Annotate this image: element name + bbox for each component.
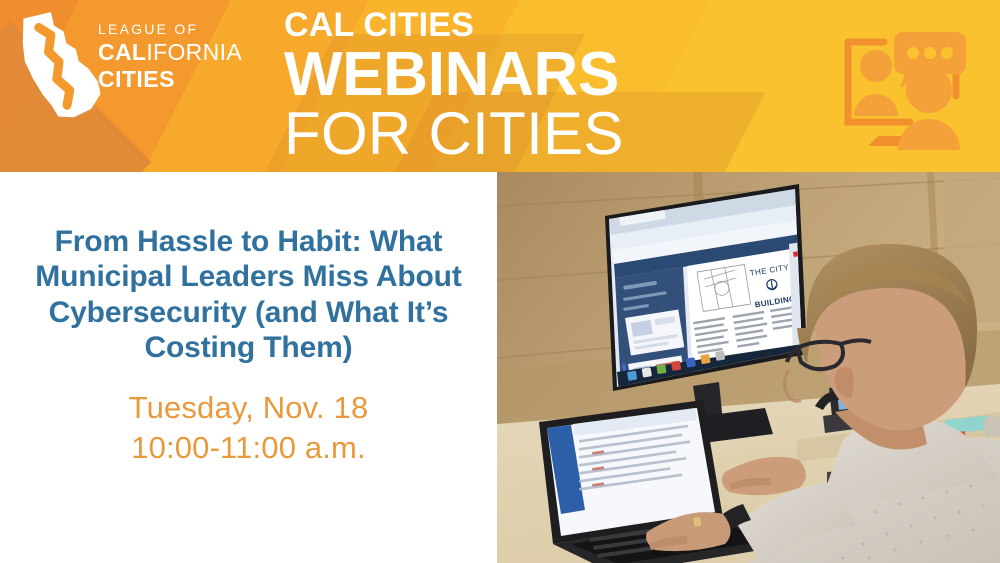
- session-datetime: Tuesday, Nov. 18 10:00-11:00 a.m.: [129, 388, 369, 469]
- session-time: 10:00-11:00 a.m.: [129, 428, 369, 468]
- headline-webinars: WEBINARS: [284, 44, 628, 106]
- logo-ifornia-thin: IFORNIA: [146, 39, 242, 65]
- logo-line-cities: CITIES: [98, 68, 242, 91]
- logo-cal-bold: CAL: [98, 39, 146, 65]
- webinar-promo-poster: LEAGUE OF CALIFORNIA CITIES CAL CITIES W…: [0, 0, 1000, 563]
- session-date: Tuesday, Nov. 18: [129, 388, 369, 428]
- session-title: From Hassle to Habit: What Municipal Lea…: [29, 224, 469, 366]
- logo-line-california: CALIFORNIA: [98, 41, 242, 64]
- header-banner: LEAGUE OF CALIFORNIA CITIES CAL CITIES W…: [0, 0, 1000, 172]
- logo-line-league: LEAGUE OF: [98, 22, 242, 36]
- headline-for-cities: FOR CITIES: [284, 104, 628, 164]
- headline-cal-cities: CAL CITIES: [284, 8, 628, 42]
- banner-headline: CAL CITIES WEBINARS FOR CITIES: [284, 8, 628, 164]
- logo-wordmark: LEAGUE OF CALIFORNIA CITIES: [98, 22, 242, 91]
- webinar-monitor-people-chat-icon: [826, 18, 978, 156]
- office-photo: THE CITY OF BUILDING PLANS: [497, 172, 1000, 563]
- session-info-column: From Hassle to Habit: What Municipal Lea…: [0, 172, 497, 563]
